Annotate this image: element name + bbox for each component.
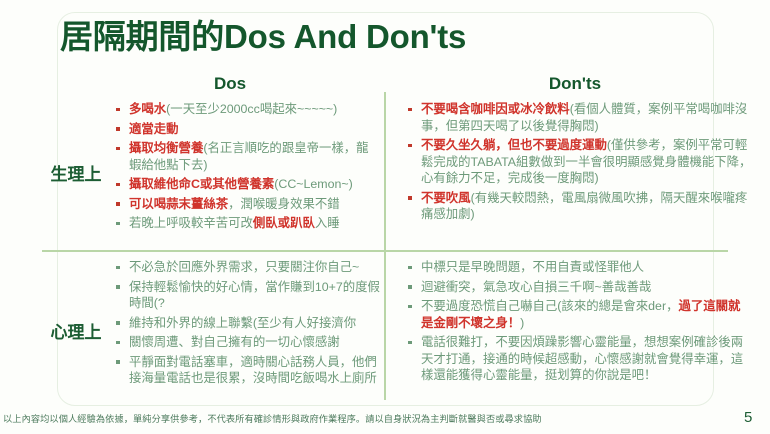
- list-item: 保持輕鬆愉快的好心情，當作賺到10+7的度假時間(?: [112, 279, 380, 312]
- list-item: 不要過度恐慌自己嚇自己(該來的總是會來der，過了這關就是金剛不壞之身！): [404, 298, 752, 331]
- list-item: 適當走動: [112, 121, 380, 138]
- page-number: 5: [744, 409, 752, 426]
- list-item: 攝取均衡營養(名正言順吃的跟皇帝一樣，龍蝦給他點下去): [112, 140, 380, 173]
- list-item: 攝取維他命C或其他營養素(CC~Lemon~): [112, 176, 380, 193]
- disclaimer-footer: 以上內容均以個人經驗為依據，單純分享供參考，不代表所有確診情形與政府作業程序。請…: [3, 411, 542, 425]
- list-donts-mental: 中標只是早晚問題，不用自責或怪罪他人迴避衝突，氣急攻心自損三千啊~善哉善哉不要過…: [404, 259, 752, 387]
- list-item: 關懷周遭、對自己擁有的一切心懷感謝: [112, 334, 380, 351]
- column-header-donts: Don'ts: [495, 74, 655, 94]
- slide-canvas: 居隔期間的Dos And Don'ts Dos Don'ts 生理上 心理上 多…: [0, 0, 770, 434]
- list-dos-physical: 多喝水(一天至少2000cc喝起來~~~~~)適當走動攝取均衡營養(名正言順吃的…: [112, 101, 380, 235]
- list-item: 不必急於回應外界需求，只要關注你自己~: [112, 259, 380, 276]
- list-dos-mental: 不必急於回應外界需求，只要關注你自己~保持輕鬆愉快的好心情，當作賺到10+7的度…: [112, 259, 380, 390]
- list-item: 迴避衝突，氣急攻心自損三千啊~善哉善哉: [404, 279, 752, 296]
- list-item: 不要吹風(有幾天較悶熱，電風扇微風吹拂，隔天醒來喉嚨疼痛感加劇): [404, 190, 752, 223]
- list-item: 維持和外界的線上聯繫(至少有人好接濟你: [112, 315, 380, 332]
- row-label-mental: 心理上: [28, 318, 124, 343]
- list-item: 若晚上呼吸較辛苦可改側臥或趴臥入睡: [112, 215, 380, 232]
- column-header-dos: Dos: [150, 74, 310, 94]
- row-label-physical: 生理上: [28, 160, 124, 185]
- list-item: 不要久坐久躺，但也不要過度運動(僅供參考，案例平常可輕鬆完成的TABATA組數做…: [404, 137, 752, 187]
- list-item: 不要喝含咖啡因或冰冷飲料(看個人體質，案例平常喝咖啡沒事，但第四天喝了以後覺得胸…: [404, 101, 752, 134]
- list-donts-physical: 不要喝含咖啡因或冰冷飲料(看個人體質，案例平常喝咖啡沒事，但第四天喝了以後覺得胸…: [404, 101, 752, 226]
- list-item: 電話很難打，不要因煩躁影響心靈能量，想想案例確診後兩天才打通，接通的時候超感動，…: [404, 334, 752, 384]
- page-title: 居隔期間的Dos And Don'ts: [60, 19, 466, 55]
- vertical-divider: [384, 92, 386, 400]
- list-item: 平靜面對電話塞車，適時關心話務人員，他們接海量電話也是很累，沒時間吃飯喝水上廁所: [112, 354, 380, 387]
- list-item: 中標只是早晚問題，不用自責或怪罪他人: [404, 259, 752, 276]
- list-item: 可以喝蒜末薑絲茶，潤喉暖身效果不錯: [112, 196, 380, 213]
- list-item: 多喝水(一天至少2000cc喝起來~~~~~): [112, 101, 380, 118]
- horizontal-divider: [42, 250, 728, 252]
